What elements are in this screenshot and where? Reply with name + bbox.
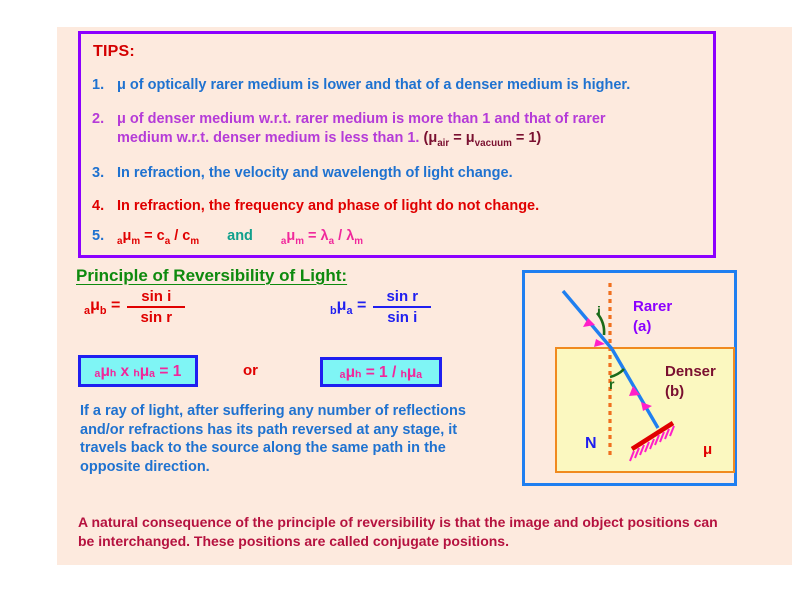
numerator-2: sin r <box>380 288 424 306</box>
tip-item-5-number: 5. <box>92 228 117 244</box>
lhs-mu-2: μ <box>337 297 347 314</box>
eq2-sub: m <box>295 236 304 247</box>
eq1-slash: / c <box>170 228 190 244</box>
plane-mirror <box>630 423 674 461</box>
eq2-eq: = λ <box>304 228 329 244</box>
tip-item-2: 2.μ of denser medium w.r.t. rarer medium… <box>92 110 708 129</box>
formula-b-mu-a-fraction: sin r sin i <box>373 288 431 326</box>
label-angle-refraction: r <box>609 376 614 392</box>
tip-item-2-line2-text: medium w.r.t. denser medium is less than… <box>117 130 419 146</box>
tip-item-1-text: μ of optically rarer medium is lower and… <box>117 77 630 93</box>
tip-item-1: 1.μ of optically rarer medium is lower a… <box>92 76 708 95</box>
lhs-mu: μ <box>90 297 100 314</box>
paren-suffix: = 1) <box>512 130 541 146</box>
formula-a-mu-b-lhs: aμb = <box>84 297 120 317</box>
denominator: sin r <box>134 308 178 326</box>
reversibility-diagram: Rarer (a) Denser (b) μ N i r <box>522 270 737 486</box>
eq1-sub: m <box>131 236 140 247</box>
tip-item-2-text: μ of denser medium w.r.t. rarer medium i… <box>117 111 606 127</box>
paren-sub-vacuum: vacuum <box>475 138 512 149</box>
formula-a-mu-b: aμb = sin i sin r <box>84 288 185 326</box>
slide-canvas: TIPS: 1.μ of optically rarer medium is l… <box>0 0 792 612</box>
tip-item-2-number: 2. <box>92 110 117 129</box>
tip-item-3-text: In refraction, the velocity and waveleng… <box>117 165 513 181</box>
tip-item-4-text: In refraction, the frequency and phase o… <box>117 198 539 214</box>
tip-item-3-number: 3. <box>92 164 117 183</box>
numerator: sin i <box>135 288 177 306</box>
tip-item-5-equation-velocity: aμm = ca / cm <box>117 228 199 244</box>
paren-mid: = μ <box>449 130 474 146</box>
lhs-pre-2: b <box>330 305 337 317</box>
tip-item-1-number: 1. <box>92 76 117 95</box>
tip-item-5-equation-wavelength: aμm = λa / λm <box>281 228 363 244</box>
eq2-mu: μ <box>286 228 295 244</box>
boxed-relation-product: ₐμₕ x ₕμₐ = 1 <box>78 355 198 387</box>
tips-box: TIPS: 1.μ of optically rarer medium is l… <box>78 31 716 258</box>
tip-item-5-conjunction: and <box>227 228 253 244</box>
eq1-eq: = c <box>140 228 165 244</box>
tips-heading: TIPS: <box>93 43 135 61</box>
label-mu: μ <box>703 441 712 458</box>
tip-item-2-parenthetical: (μair = μvacuum = 1) <box>423 130 541 146</box>
tip-item-4-number: 4. <box>92 197 117 216</box>
tip-item-5: 5.aμm = ca / cmandaμm = λa / λm <box>92 228 363 247</box>
label-rarer-medium: (a) <box>633 318 651 335</box>
label-denser: Denser <box>665 363 716 380</box>
formula-b-mu-a-lhs: bμa = <box>330 297 366 317</box>
paren-sub-air: air <box>437 138 449 149</box>
formula-b-mu-a: bμa = sin r sin i <box>330 288 431 326</box>
label-rarer: Rarer <box>633 298 672 315</box>
eq2-sub-m: m <box>354 236 363 247</box>
formula-a-mu-b-fraction: sin i sin r <box>127 288 185 326</box>
lhs-eq-2: = <box>353 297 367 314</box>
denominator-2: sin i <box>381 308 423 326</box>
tip-item-4: 4.In refraction, the frequency and phase… <box>92 197 708 216</box>
tip-item-2-line2: medium w.r.t. denser medium is less than… <box>117 130 541 149</box>
lhs-eq: = <box>107 297 121 314</box>
or-label: or <box>243 362 258 379</box>
boxed-relation-reciprocal: ₐμₕ = 1 / ₕμₐ <box>320 357 442 387</box>
principle-heading: Principle of Reversibility of Light: <box>76 266 347 286</box>
paren-prefix: (μ <box>423 130 437 146</box>
label-angle-incidence: i <box>597 303 601 319</box>
eq1-sub-m: m <box>190 236 199 247</box>
label-denser-medium: (b) <box>665 383 684 400</box>
lhs-sub: b <box>100 305 107 317</box>
label-normal: N <box>585 435 597 453</box>
eq2-slash: / λ <box>334 228 354 244</box>
reversibility-statement: If a ray of light, after suffering any n… <box>80 402 480 476</box>
tip-item-3: 3.In refraction, the velocity and wavele… <box>92 164 708 183</box>
refracted-ray <box>612 349 658 428</box>
conjugate-positions-note: A natural consequence of the principle o… <box>78 513 736 551</box>
